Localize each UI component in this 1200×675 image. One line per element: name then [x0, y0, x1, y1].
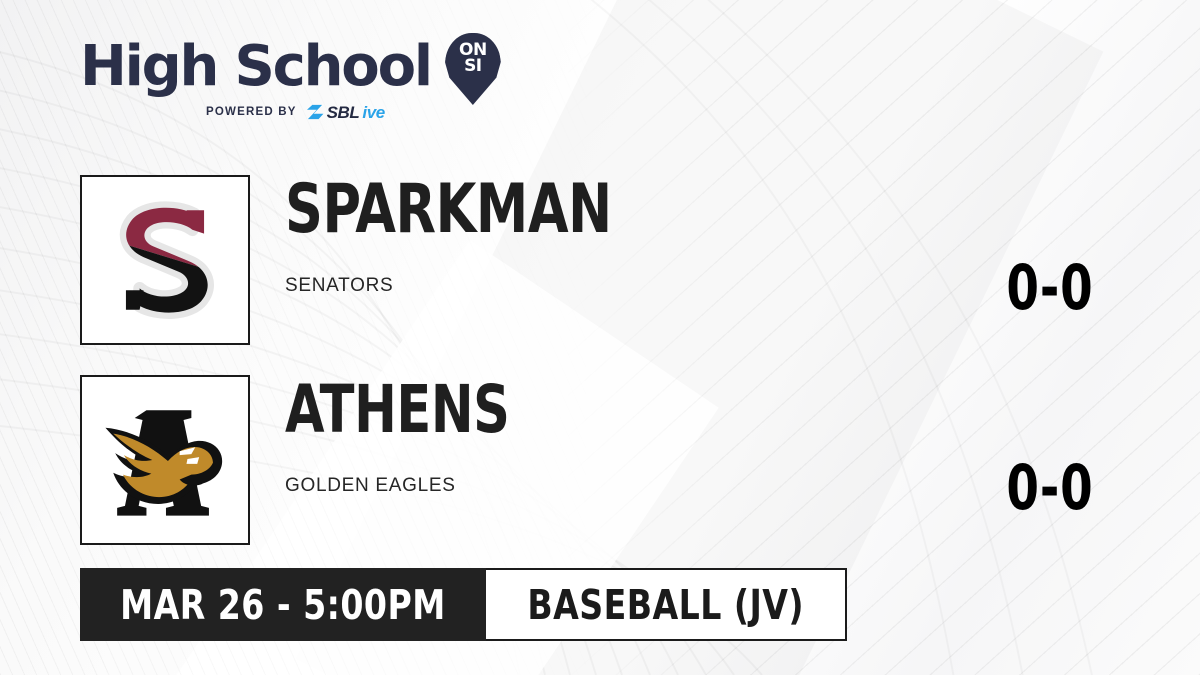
game-info-banner: MAR 26 - 5:00PM BASEBALL (JV)	[80, 568, 847, 641]
pin-line-si: SI	[445, 58, 501, 74]
brand-lockup[interactable]: High School ON SI POWERED BY SBLive	[80, 36, 550, 132]
away-team-record: 0-0	[924, 457, 1176, 519]
on-si-pin-icon: ON SI	[445, 33, 501, 105]
game-datetime-block: MAR 26 - 5:00PM	[80, 568, 486, 641]
sblive-text-blue: ive	[362, 104, 384, 121]
home-team-logo-box[interactable]	[80, 175, 250, 345]
powered-by-row: POWERED BY SBLive	[80, 103, 550, 121]
matchup-card: High School ON SI POWERED BY SBLive	[0, 0, 1200, 675]
away-team-text: ATHENS GOLDEN EAGLES	[285, 373, 885, 497]
home-team-record: 0-0	[924, 257, 1176, 319]
sparkman-senators-logo	[82, 177, 248, 343]
sblive-text-dark: SBL	[327, 104, 360, 121]
sblive-logo: SBLive	[306, 104, 385, 121]
home-team-text: SPARKMAN SENATORS	[285, 173, 885, 297]
home-team-name: SPARKMAN	[285, 173, 801, 247]
brand-wordmark: High School	[80, 37, 431, 97]
game-datetime-label: MAR 26 - 5:00PM	[120, 583, 446, 627]
away-team-logo-box[interactable]	[80, 375, 250, 545]
powered-by-label: POWERED BY	[206, 106, 297, 118]
game-sport-block: BASEBALL (JV)	[486, 568, 847, 641]
brand-row: High School ON SI	[80, 36, 550, 98]
sblive-s-mark	[306, 104, 324, 120]
away-team-name: ATHENS	[285, 373, 801, 447]
home-team-mascot: SENATORS	[285, 275, 885, 297]
away-team-mascot: GOLDEN EAGLES	[285, 475, 885, 497]
game-sport-label: BASEBALL (JV)	[527, 583, 804, 627]
athens-golden-eagles-logo	[82, 377, 248, 543]
pin-text: ON SI	[445, 42, 501, 74]
